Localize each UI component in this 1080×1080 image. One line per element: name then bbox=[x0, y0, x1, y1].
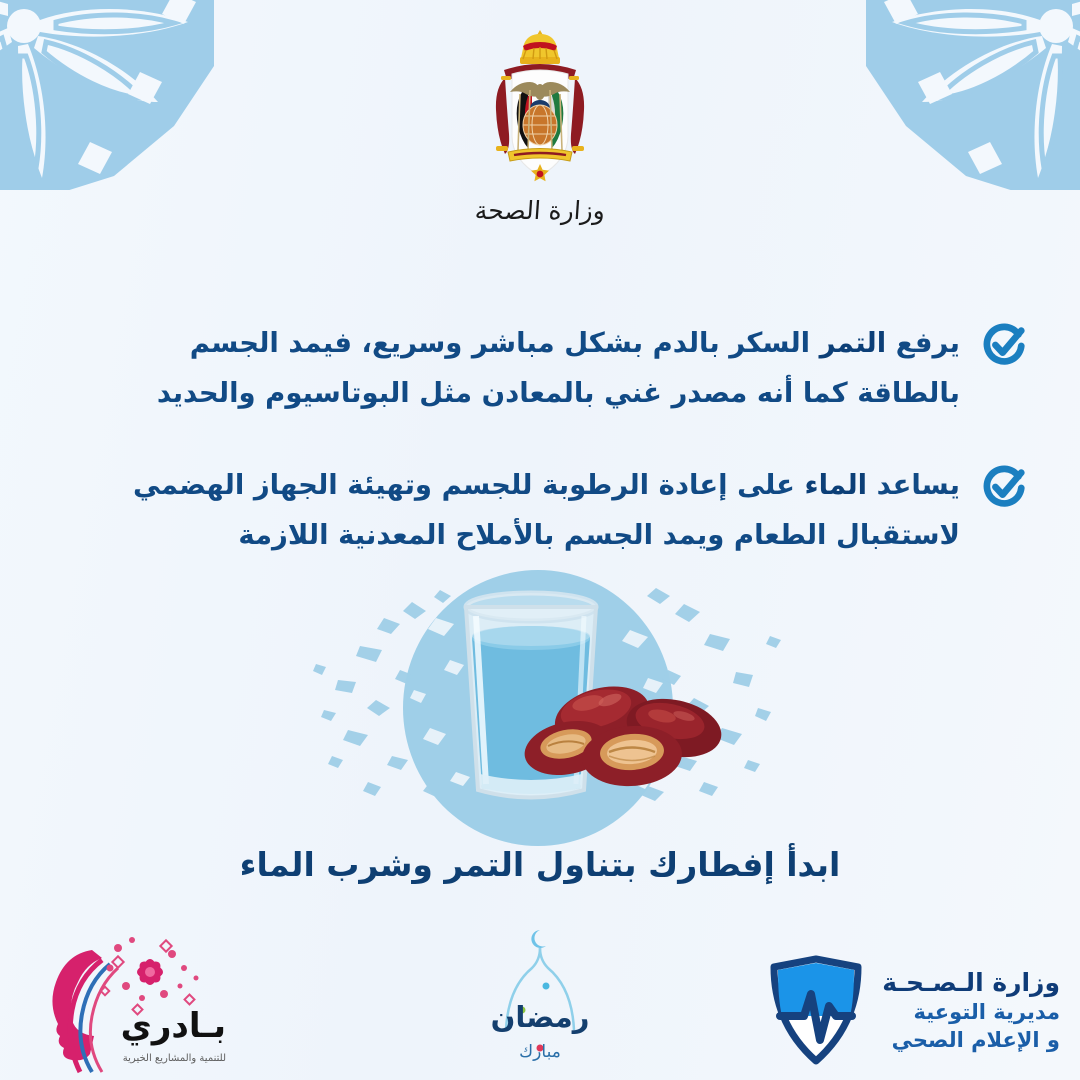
moh-line-3: و الإعلام الصحي bbox=[882, 1027, 1060, 1055]
badri-woman-floral-icon bbox=[14, 924, 244, 1074]
moh-line-1: وزارة الـصـحـة bbox=[882, 966, 1060, 999]
tagline-text: ابدأ إفطارك بتناول التمر وشرب الماء bbox=[0, 845, 1080, 884]
badri-subtitle: للتنمية والمشاريع الخيرية bbox=[123, 1053, 226, 1064]
ministry-of-health-awareness-logo: وزارة الـصـحـة مديرية التوعية و الإعلام … bbox=[766, 954, 1060, 1066]
badri-wordmark: بـادري bbox=[121, 1006, 226, 1046]
glass-of-water-and-dates-illustration bbox=[280, 560, 800, 850]
bullet-item-water: يساعد الماء على إعادة الرطوبة للجسم وتهي… bbox=[120, 460, 1028, 560]
badri-logo: بـادري للتنمية والمشاريع الخيرية bbox=[14, 924, 244, 1074]
bullet-highlight-water: الماء bbox=[805, 469, 868, 501]
bullet-item-dates: يرفع التمر السكر بالدم بشكل مباشر وسريع،… bbox=[120, 318, 1028, 418]
jordan-coat-of-arms-icon bbox=[460, 24, 620, 194]
bullet-text-dates: يرفع التمر السكر بالدم بشكل مباشر وسريع،… bbox=[120, 318, 960, 418]
header-emblem-block: وزارة الصحة bbox=[0, 24, 1080, 225]
bullet-lead-water: يساعد bbox=[867, 469, 960, 501]
moh-line-2: مديرية التوعية bbox=[882, 999, 1060, 1027]
footer-logo-bar: بـادري للتنمية والمشاريع الخيرية رمضان م… bbox=[0, 910, 1080, 1080]
ramadan-mubarak-logo: رمضان مبارك bbox=[460, 926, 620, 1076]
check-circle-icon bbox=[982, 464, 1028, 510]
moh-text-block: وزارة الـصـحـة مديرية التوعية و الإعلام … bbox=[882, 966, 1060, 1054]
health-shield-heartbeat-icon bbox=[766, 954, 866, 1066]
check-circle-icon bbox=[982, 322, 1028, 368]
bullet-text-water: يساعد الماء على إعادة الرطوبة للجسم وتهي… bbox=[120, 460, 960, 560]
ramadan-subtitle: مبارك bbox=[460, 1042, 620, 1062]
bullet-highlight-dates: التمر bbox=[820, 327, 887, 359]
ministry-script-title: وزارة الصحة bbox=[474, 196, 606, 225]
bullet-lead-dates: يرفع bbox=[886, 327, 960, 359]
poster-canvas: وزارة الصحة يرفع التمر السكر بالدم بشكل … bbox=[0, 0, 1080, 1080]
ramadan-wordmark: رمضان bbox=[460, 1000, 620, 1034]
